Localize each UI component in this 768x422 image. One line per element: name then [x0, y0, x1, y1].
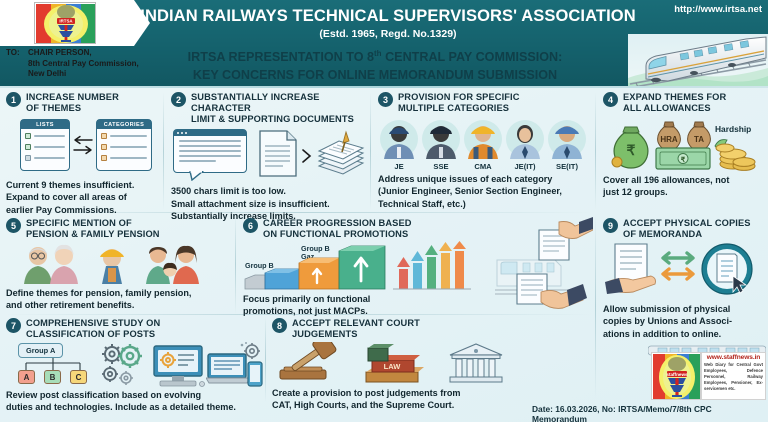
card-6-body-line-2: promotions, not just MACPs. [243, 305, 493, 317]
card-1-title-line-1: INCREASE NUMBER [26, 92, 119, 103]
staffnews-logo: staffnews [651, 352, 701, 400]
card-6-header: 6 CAREER PROGRESSION BASED ON FUNCTIONAL… [243, 218, 493, 240]
card-7-illustration: Group A A B C [6, 342, 268, 388]
card-9-header: 9 ACCEPT PHYSICAL COPIES OF MEMORANDA [603, 218, 763, 240]
card-4-title: EXPAND THEMES FOR ALL ALLOWANCES [623, 92, 726, 114]
org-children: A B C [18, 370, 87, 384]
card-7-body: Review post classification based on evol… [6, 389, 268, 413]
card-7-title-line-1: COMPREHENSIVE STUDY ON [26, 318, 160, 329]
categories-panel: CATEGORIES [96, 119, 152, 171]
svg-text:IRTSA: IRTSA [59, 19, 73, 24]
card-8-body: Create a provision to post judgements fr… [272, 387, 532, 411]
card-9-number: 9 [603, 218, 618, 233]
desktop-monitor-icon [152, 344, 208, 388]
category-label-seit: SE(IT) [546, 162, 588, 171]
addressee-block: TO:CHAIR PERSON, 8th Central Pay Commiss… [6, 48, 139, 80]
categories-panel-header: CATEGORIES [97, 120, 151, 129]
train-illustration [628, 34, 768, 88]
law-book-label: LAW [384, 362, 402, 371]
card-6-title-line-2: ON FUNCTIONAL PROMOTIONS [263, 229, 412, 240]
card-2-header: 2 SUBSTANTIALLY INCREASE CHARACTER LIMIT… [171, 92, 367, 125]
list-line-3 [34, 157, 65, 159]
irtsa-logo: IRTSA [34, 2, 96, 44]
card-5-illustration [6, 243, 234, 285]
cat-box-3 [101, 155, 107, 161]
card-2-number: 2 [171, 92, 186, 107]
speech-tail-icon [189, 171, 205, 181]
card-9-body-line-2: copies by Unions and Associ- [603, 315, 763, 327]
card-8-body-line-1: Create a provision to post judgements fr… [272, 387, 532, 399]
divider-v4 [235, 214, 236, 314]
card-1-body: Current 9 themes insufficient. Expand to… [6, 179, 161, 216]
card-7-body-line-2: duties and technologies. Include as a de… [6, 401, 268, 413]
page-title-part-a: IRTSA REPRESENTATION TO 8 [188, 50, 374, 64]
cat-line-3 [110, 157, 147, 159]
card-1-header: 1 INCREASE NUMBER OF THEMES [6, 92, 161, 114]
card-5-body-line-2: and other retirement benefits. [6, 299, 234, 311]
category-label-cma: CMA [462, 162, 504, 171]
org-subtitle: (Estd. 1965, Regd. No.1329) [118, 28, 658, 40]
card-2-body-line-1: 3500 chars limit is too low. [171, 185, 367, 197]
card-8-title: ACCEPT RELEVANT COURT JUDGEMENTS [292, 318, 420, 340]
banknote-icon: ₹ [655, 146, 711, 170]
to-label: TO: [6, 48, 28, 59]
card-1-body-line-2: Expand to cover all areas of [6, 191, 161, 203]
money-bag-icon: ₹ [607, 124, 655, 170]
list-line-2 [34, 146, 65, 148]
staffnews-url[interactable]: www.staffnews.in [702, 353, 765, 361]
check-box-2 [25, 144, 31, 150]
document-stack-icon [313, 130, 367, 180]
page-title-part-b: CENTRAL PAY COMMISSION: [382, 50, 563, 64]
card-2-title: SUBSTANTIALLY INCREASE CHARACTER LIMIT &… [191, 92, 367, 125]
card-4-body-line-2: just 12 groups. [603, 186, 763, 198]
card-9-title-line-1: ACCEPT PHYSICAL COPIES [623, 218, 751, 229]
list-line-1 [34, 135, 65, 137]
card-7-title-line-2: CLASSIFICATION OF POSTS [26, 329, 160, 340]
card-4-illustration: ₹ HRA TA Hardship ₹ [603, 116, 763, 172]
card-7[interactable]: 7 COMPREHENSIVE STUDY ON CLASSIFICATION … [6, 318, 268, 414]
card-1-title: INCREASE NUMBER OF THEMES [26, 92, 119, 114]
card-9-illustration [603, 242, 763, 302]
card-3-body: Address unique issues of each category (… [378, 173, 592, 210]
card-3-title-line-2: MULTIPLE CATEGORIES [398, 103, 520, 114]
node-b: B [44, 370, 61, 384]
card-1[interactable]: 1 INCREASE NUMBER OF THEMES LISTS [6, 92, 161, 216]
hardship-label: Hardship [715, 124, 751, 134]
footer-date-reference: Date: 16.03.2026, No: IRTSA/Memo/7/8th C… [532, 404, 768, 422]
card-8-illustration: LAW [272, 342, 532, 386]
card-5-title-line-1: SPECIFIC MENTION OF [26, 218, 160, 229]
handover-illustration [495, 216, 593, 314]
coin-stack-icon [711, 136, 757, 172]
card-1-title-line-2: OF THEMES [26, 103, 119, 114]
card-8-number: 8 [272, 318, 287, 333]
card-7-body-line-1: Review post classification based on evol… [6, 389, 268, 401]
divider-v3 [595, 92, 596, 210]
check-box-3 [25, 155, 31, 161]
ta-label: TA [694, 135, 704, 144]
cat-line-1 [110, 135, 147, 137]
card-1-body-line-3: earlier Pay Commissions. [6, 204, 161, 216]
cat-line-2 [110, 146, 147, 148]
node-c: C [70, 370, 87, 384]
card-3-title-line-1: PROVISION FOR SPECIFIC [398, 92, 520, 103]
to-line-1: CHAIR PERSON, [28, 48, 92, 57]
card-5[interactable]: 5 SPECIFIC MENTION OF PENSION & FAMILY P… [6, 218, 234, 312]
org-connectors [18, 358, 88, 370]
card-5-number: 5 [6, 218, 21, 233]
page-title: IRTSA REPRESENTATION TO 8th CENTRAL PAY … [140, 48, 610, 85]
card-3-body-line-3: Technical Staff, etc.) [378, 198, 592, 210]
check-box-1 [25, 133, 31, 139]
card-4-number: 4 [603, 92, 618, 107]
page-title-ordinal: th [374, 49, 382, 58]
card-6-title: CAREER PROGRESSION BASED ON FUNCTIONAL P… [263, 218, 412, 240]
category-label-je: JE [378, 162, 420, 171]
card-5-body: Define themes for pension, family pensio… [6, 287, 234, 311]
card-6-body: Focus primarily on functional promotions… [243, 293, 493, 317]
header-divider [0, 86, 768, 88]
lists-panel-header: LISTS [21, 120, 69, 129]
card-8-title-line-2: JUDGEMENTS [292, 329, 420, 340]
lists-panel: LISTS [20, 119, 70, 171]
card-6-number: 6 [243, 218, 258, 233]
cat-box-2 [101, 144, 107, 150]
card-6[interactable]: 6 CAREER PROGRESSION BASED ON FUNCTIONAL… [243, 218, 493, 318]
website-url[interactable]: http://www.irtsa.net [674, 4, 762, 15]
card-6-title-line-1: CAREER PROGRESSION BASED [263, 218, 412, 229]
text-editor-window [173, 129, 247, 173]
card-4-body: Cover all 196 allowances, not just 12 gr… [603, 174, 763, 198]
staffnews-logo-text: staffnews [666, 372, 688, 377]
card-3-header: 3 PROVISION FOR SPECIFIC MULTIPLE CATEGO… [378, 92, 592, 114]
document-icon [257, 130, 299, 178]
node-a: A [18, 370, 35, 384]
career-steps-icon [243, 241, 493, 291]
card-9-body-line-1: Allow submission of physical [603, 303, 763, 315]
category-label-jeit: JE(IT) [504, 162, 546, 171]
exchange-arrows-icon [72, 134, 94, 156]
category-label-sse: SSE [420, 162, 462, 171]
card-9-body: Allow submission of physical copies by U… [603, 303, 763, 340]
infographic-page: IRTSA INDIAN RAILWAYS TECHNICAL SUPERVIS… [0, 0, 768, 422]
to-line-3: New Delhi [6, 69, 139, 80]
staffnews-card[interactable]: www.staffnews.in Web Diary for Central G… [701, 352, 766, 400]
org-title: INDIAN RAILWAYS TECHNICAL SUPERVISORS' A… [118, 7, 658, 26]
card-7-header: 7 COMPREHENSIVE STUDY ON CLASSIFICATION … [6, 318, 268, 340]
card-7-title: COMPREHENSIVE STUDY ON CLASSIFICATION OF… [26, 318, 160, 340]
card-4-body-line-1: Cover all 196 allowances, not [603, 174, 763, 186]
card-7-number: 7 [6, 318, 21, 333]
card-3-body-line-2: (Junior Engineer, Senior Section Enginee… [378, 185, 592, 197]
card-2-body-line-2: Small attachment size is insufficient. [171, 198, 367, 210]
card-8-body-line-2: CAT, High Courts, and the Supreme Court. [272, 399, 532, 411]
card-4-header: 4 EXPAND THEMES FOR ALL ALLOWANCES [603, 92, 763, 114]
card-8-title-line-1: ACCEPT RELEVANT COURT [292, 318, 420, 329]
card-3-number: 3 [378, 92, 393, 107]
card-1-illustration: LISTS CATEGORIES [6, 116, 161, 176]
card-9-title-line-2: OF MEMORANDA [623, 229, 751, 240]
card-5-body-line-1: Define themes for pension, family pensio… [6, 287, 234, 299]
card-1-body-line-1: Current 9 themes insufficient. [6, 179, 161, 191]
card-8-header: 8 ACCEPT RELEVANT COURT JUDGEMENTS [272, 318, 532, 340]
card-1-number: 1 [6, 92, 21, 107]
card-2[interactable]: 2 SUBSTANTIALLY INCREASE CHARACTER LIMIT… [171, 92, 367, 222]
card-6-body-line-1: Focus primarily on functional [243, 293, 493, 305]
card-9-body-line-3: ations in addition to online. [603, 328, 763, 340]
staffnews-description: Web Diary for Central Govt Employees, De… [702, 361, 765, 392]
card-9[interactable]: 9 ACCEPT PHYSICAL COPIES OF MEMORANDA [603, 218, 763, 340]
card-2-title-line-1: SUBSTANTIALLY INCREASE CHARACTER [191, 92, 367, 114]
card-8[interactable]: 8 ACCEPT RELEVANT COURT JUDGEMENTS [272, 318, 532, 412]
card-3-illustration [378, 117, 592, 161]
to-line-2: 8th Central Pay Commission, [6, 59, 139, 70]
chevron-right-icon [301, 149, 313, 163]
card-9-title: ACCEPT PHYSICAL COPIES OF MEMORANDA [623, 218, 751, 240]
divider-v2 [370, 92, 371, 210]
card-3-category-labels: JE SSE CMA JE(IT) SE(IT) [378, 162, 592, 171]
card-3[interactable]: 3 PROVISION FOR SPECIFIC MULTIPLE CATEGO… [378, 92, 592, 210]
laptop-phone-icon [206, 342, 266, 388]
card-2-title-line-2: LIMIT & SUPPORTING DOCUMENTS [191, 114, 367, 125]
card-3-title: PROVISION FOR SPECIFIC MULTIPLE CATEGORI… [398, 92, 520, 114]
svg-text:₹: ₹ [627, 142, 636, 158]
card-2-body: 3500 chars limit is too low. Small attac… [171, 185, 367, 222]
card-5-title-line-2: PENSION & FAMILY PENSION [26, 229, 160, 240]
divider-v1 [163, 92, 164, 210]
card-5-header: 5 SPECIFIC MENTION OF PENSION & FAMILY P… [6, 218, 234, 240]
group-a-node: Group A [18, 343, 63, 358]
cat-box-1 [101, 133, 107, 139]
card-6-illustration: Group B Group B Gaz. [243, 241, 493, 291]
svg-text:₹: ₹ [681, 156, 686, 164]
gears-icon [98, 342, 148, 388]
card-5-title: SPECIFIC MENTION OF PENSION & FAMILY PEN… [26, 218, 160, 240]
card-4[interactable]: 4 EXPAND THEMES FOR ALL ALLOWANCES ₹ HRA [603, 92, 763, 199]
card-4-title-line-2: ALL ALLOWANCES [623, 103, 726, 114]
page-title-line-2: KEY CONCERNS FOR ONLINE MEMORANDUM SUBMI… [140, 67, 610, 85]
divider-v5 [595, 214, 596, 399]
card-3-body-line-1: Address unique issues of each category [378, 173, 592, 185]
card-4-title-line-1: EXPAND THEMES FOR [623, 92, 726, 103]
hra-label: HRA [660, 135, 678, 144]
card-2-illustration [171, 127, 367, 183]
